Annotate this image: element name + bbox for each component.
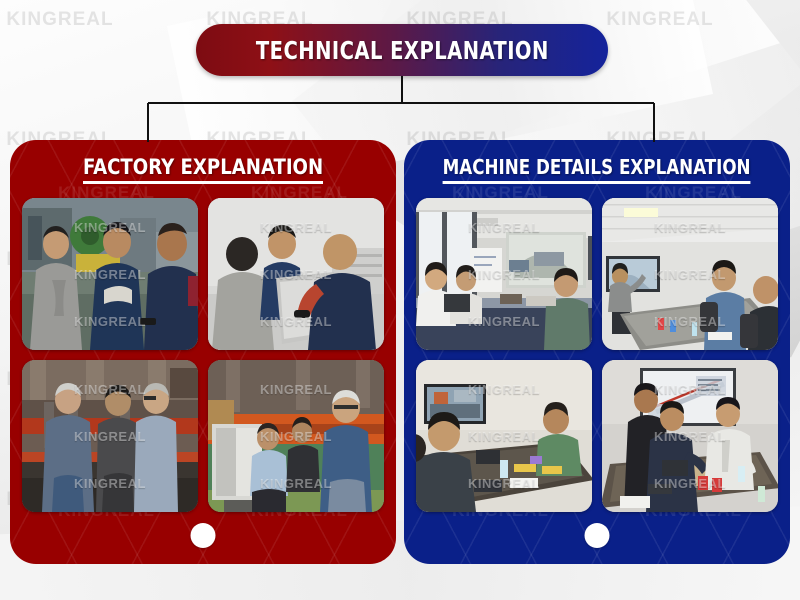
photo-factory-control-cabinet[interactable]: KINGREALKINGREALKINGREAL xyxy=(208,360,384,512)
photo-factory-machine-walkthrough[interactable]: KINGREALKINGREALKINGREAL xyxy=(22,360,198,512)
photo-factory-sheet-inspection[interactable]: KINGREALKINGREALKINGREAL xyxy=(208,198,384,350)
photo-meeting-projector-presentation[interactable]: KINGREALKINGREALKINGREAL xyxy=(416,198,592,350)
panel-factory-explanation: KINGREALKINGREALKINGREALKINGREALKINGREAL… xyxy=(10,140,396,564)
page-title: TECHNICAL EXPLANATION xyxy=(256,36,549,65)
photo-meeting-whiteboard-briefing[interactable]: KINGREALKINGREALKINGREAL xyxy=(602,198,778,350)
photo-factory-document-review[interactable]: KINGREALKINGREALKINGREAL xyxy=(22,198,198,350)
home-indicator-machine[interactable] xyxy=(585,523,610,548)
panel-machine-details-explanation: KINGREALKINGREALKINGREALKINGREALKINGREAL… xyxy=(404,140,790,564)
photo-meeting-technical-drawing[interactable]: KINGREALKINGREALKINGREAL xyxy=(602,360,778,512)
page-title-banner: TECHNICAL EXPLANATION xyxy=(196,24,608,76)
photo-grid-factory: KINGREALKINGREALKINGREAL xyxy=(10,198,396,512)
home-indicator-factory[interactable] xyxy=(191,523,216,548)
photo-meeting-conference-tv[interactable]: KINGREALKINGREALKINGREAL xyxy=(416,360,592,512)
photo-grid-machine: KINGREALKINGREALKINGREAL xyxy=(404,198,790,512)
